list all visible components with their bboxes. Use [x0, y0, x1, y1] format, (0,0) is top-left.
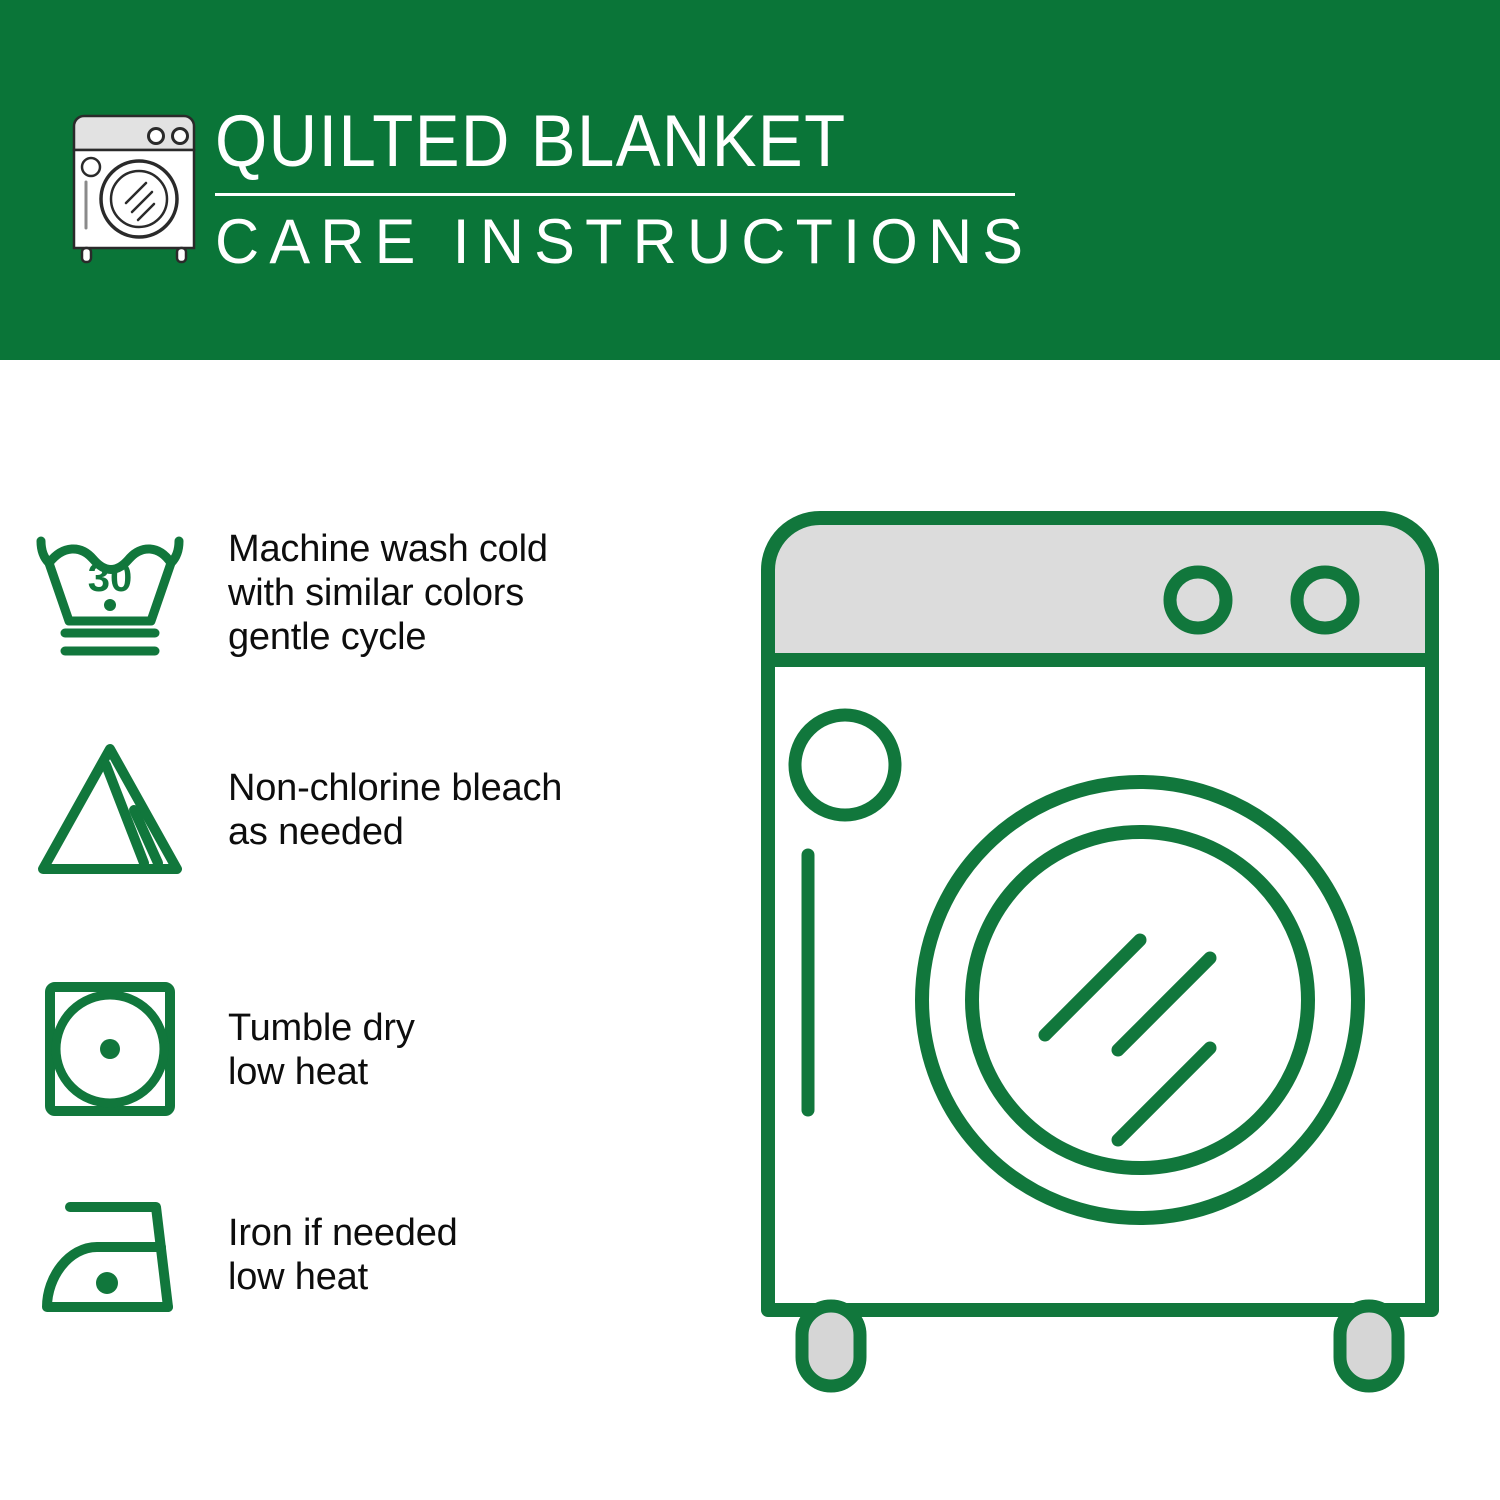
drum-motion-lines — [1045, 940, 1210, 1140]
instruction-label-bleach: Non-chlorine bleach as needed — [220, 766, 740, 854]
leg-right — [1340, 1306, 1398, 1386]
drum-door-outer-ring — [922, 782, 1358, 1218]
instruction-label-tumble-dry: Tumble dry low heat — [220, 1006, 740, 1094]
instruction-row-iron: Iron if needed low heat — [0, 1180, 740, 1330]
control-panel — [768, 518, 1432, 660]
detergent-drawer-circle — [795, 715, 895, 815]
instruction-row-tumble-dry: Tumble dry low heat — [0, 970, 740, 1130]
instruction-row-bleach: Non-chlorine bleach as needed — [0, 730, 740, 890]
header-title-block: QUILTED BLANKET CARE INSTRUCTIONS — [215, 103, 1025, 277]
instruction-label-wash: Machine wash cold with similar colors ge… — [220, 527, 740, 659]
front-load-washing-machine-illustration — [740, 490, 1460, 1410]
header-banner: QUILTED BLANKET CARE INSTRUCTIONS — [0, 0, 1500, 360]
instruction-label-iron: Iron if needed low heat — [220, 1211, 740, 1299]
leg-left — [802, 1306, 860, 1386]
non-chlorine-bleach-triangle-icon — [0, 735, 220, 885]
title-divider — [215, 193, 1015, 196]
svg-text:30: 30 — [88, 556, 133, 600]
instruction-row-wash: 30 Machine wash cold with similar colors… — [0, 508, 740, 678]
care-instruction-list: 30 Machine wash cold with similar colors… — [0, 360, 740, 1500]
page-subtitle: CARE INSTRUCTIONS — [215, 207, 1001, 277]
wash-tub-30-gentle-icon: 30 — [0, 523, 220, 663]
washing-machine-icon — [64, 104, 204, 264]
page-title: QUILTED BLANKET — [215, 103, 960, 181]
tumble-dry-low-heat-icon — [0, 975, 220, 1125]
iron-low-heat-icon — [0, 1185, 220, 1325]
